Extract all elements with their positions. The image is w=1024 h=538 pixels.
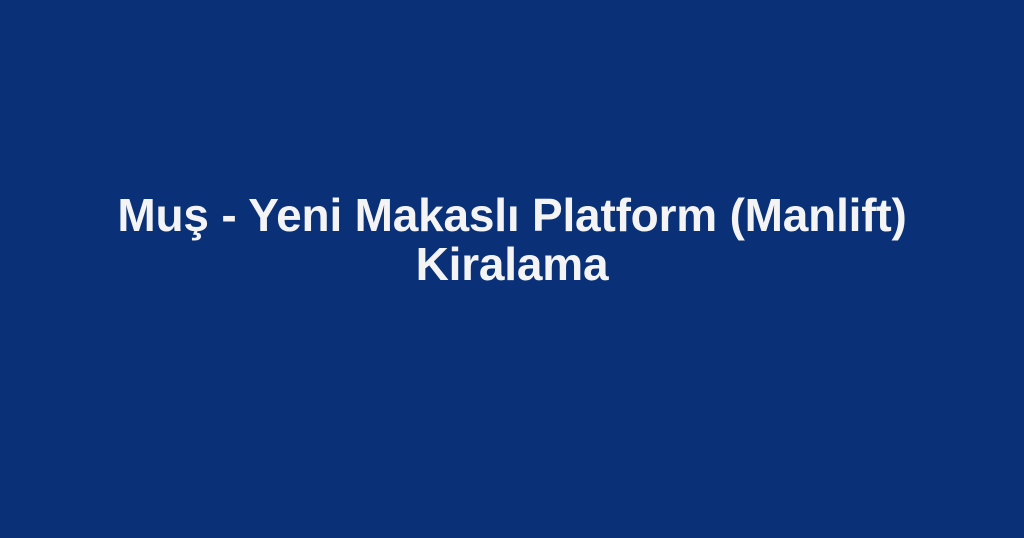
share-card-content: Muş - Yeni Makaslı Platform (Manlift) Ki… (80, 191, 944, 289)
page-title: Muş - Yeni Makaslı Platform (Manlift) Ki… (80, 191, 944, 289)
share-card: Muş - Yeni Makaslı Platform (Manlift) Ki… (0, 0, 1024, 538)
